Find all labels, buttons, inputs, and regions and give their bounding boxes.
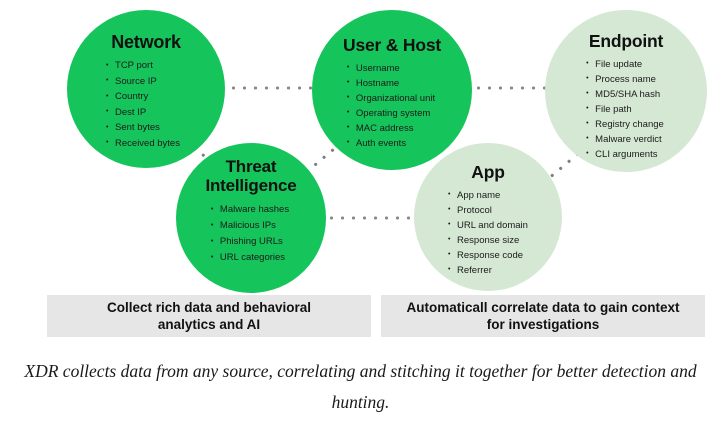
list-item: Source IP	[106, 74, 180, 90]
callout-correlate: Automaticall correlate data to gain cont…	[381, 295, 705, 337]
list-item: Registry change	[586, 117, 664, 132]
node-endpoint-list: File update Process name MD5/SHA hash Fi…	[586, 57, 664, 162]
node-network-title: Network	[67, 32, 225, 52]
list-item: Operating system	[347, 106, 435, 121]
list-item: Hostname	[347, 76, 435, 91]
node-user-host[interactable]: User & Host Username Hostname Organizati…	[312, 10, 472, 170]
node-app[interactable]: App App name Protocol URL and domain Res…	[414, 143, 562, 291]
list-item: Response size	[448, 233, 528, 248]
node-endpoint-title: Endpoint	[545, 32, 707, 52]
list-item: File update	[586, 57, 664, 72]
list-item: Response code	[448, 248, 528, 263]
list-item: Auth events	[347, 136, 435, 151]
connector-user-host-to-endpoint	[462, 86, 548, 90]
connector-network-to-user-host	[228, 86, 314, 90]
connector-threat-intelligence-to-app	[326, 216, 418, 220]
node-network[interactable]: Network TCP port Source IP Country Dest …	[67, 10, 225, 168]
node-threat-intelligence[interactable]: Threat Intelligence Malware hashes Malic…	[176, 143, 326, 293]
list-item: App name	[448, 188, 528, 203]
node-app-list: App name Protocol URL and domain Respons…	[448, 188, 528, 278]
list-item: Malware verdict	[586, 132, 664, 147]
list-item: Malicious IPs	[211, 218, 289, 234]
list-item: TCP port	[106, 58, 180, 74]
list-item: URL and domain	[448, 218, 528, 233]
list-item: MD5/SHA hash	[586, 87, 664, 102]
callout-collect: Collect rich data and behavioral analyti…	[47, 295, 371, 337]
list-item: CLI arguments	[586, 147, 664, 162]
list-item: Malware hashes	[211, 202, 289, 218]
list-item: Process name	[586, 72, 664, 87]
list-item: URL categories	[211, 250, 289, 266]
list-item: Country	[106, 89, 180, 105]
node-threat-intelligence-list: Malware hashes Malicious IPs Phishing UR…	[211, 202, 289, 266]
node-endpoint[interactable]: Endpoint File update Process name MD5/SH…	[545, 10, 707, 172]
xdr-data-sources-diagram: Network TCP port Source IP Country Dest …	[0, 0, 721, 426]
list-item: Received bytes	[106, 136, 180, 152]
list-item: Dest IP	[106, 105, 180, 121]
node-app-title: App	[414, 163, 562, 183]
callout-correlate-text: Automaticall correlate data to gain cont…	[398, 299, 688, 334]
list-item: Organizational unit	[347, 91, 435, 106]
list-item: Referrer	[448, 263, 528, 278]
list-item: Sent bytes	[106, 120, 180, 136]
figure-caption: XDR collects data from any source, corre…	[18, 356, 703, 417]
callout-collect-text: Collect rich data and behavioral analyti…	[84, 299, 334, 334]
list-item: MAC address	[347, 121, 435, 136]
list-item: File path	[586, 102, 664, 117]
node-threat-intelligence-title: Threat Intelligence	[176, 157, 326, 195]
node-network-list: TCP port Source IP Country Dest IP Sent …	[106, 58, 180, 151]
list-item: Username	[347, 61, 435, 76]
list-item: Phishing URLs	[211, 234, 289, 250]
list-item: Protocol	[448, 203, 528, 218]
node-user-host-list: Username Hostname Organizational unit Op…	[347, 61, 435, 151]
node-user-host-title: User & Host	[312, 36, 472, 56]
